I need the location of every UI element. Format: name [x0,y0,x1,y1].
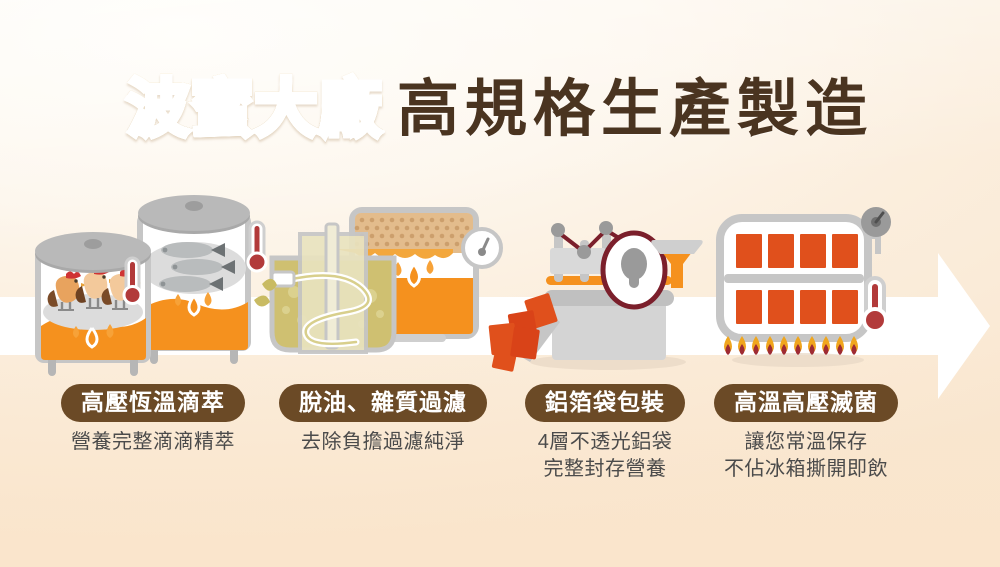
step-2-illustration [258,196,508,382]
step-4-desc: 讓您常溫保存 不佔冰箱撕開即飲 [702,429,910,482]
step-3-desc-line-2: 完整封存營養 [492,456,718,482]
step-2-pill: 脫油、雜質過濾 [279,384,487,422]
step-labels: 高壓恆溫滴萃 營養完整滴滴精萃 脫油、雜質過濾 去除負擔過濾純淨 鋁箔袋包裝 4… [0,384,1000,504]
step-4-desc-line-2: 不佔冰箱撕開即飲 [702,456,910,482]
step-3-illustration [488,196,714,382]
step-4-label: 高溫高壓滅菌 讓您常溫保存 不佔冰箱撕開即飲 [702,384,910,482]
step-1-desc: 營養完整滴滴精萃 [22,429,284,455]
filtration-vessel-icon [258,196,508,382]
step-4-desc-line-1: 讓您常溫保存 [702,429,910,455]
step-3-desc: 4層不透光鋁袋 完整封存營養 [492,429,718,482]
step-4-pill: 高溫高壓滅菌 [714,384,898,422]
extraction-tanks-icon [22,196,284,382]
sterilizer-oven-icon [706,196,906,382]
step-1-illustration [22,196,284,382]
step-3-label: 鋁箔袋包裝 4層不透光鋁袋 完整封存營養 [492,384,718,482]
step-2-label: 脫油、雜質過濾 去除負擔過濾純淨 [258,384,508,456]
step-1-pill: 高壓恆溫滴萃 [61,384,245,422]
step-2-desc-line-1: 去除負擔過濾純淨 [258,429,508,455]
step-3-desc-line-1: 4層不透光鋁袋 [492,429,718,455]
step-1-desc-line-1: 營養完整滴滴精萃 [22,429,284,455]
step-3-pill: 鋁箔袋包裝 [525,384,685,422]
step-1-label: 高壓恆溫滴萃 營養完整滴滴精萃 [22,384,284,456]
infographic-canvas: 波蜜大廠高規格生產製造 [0,0,1000,567]
step-4-illustration [706,196,906,382]
packaging-machine-icon [488,196,714,382]
step-2-desc: 去除負擔過濾純淨 [258,429,508,455]
